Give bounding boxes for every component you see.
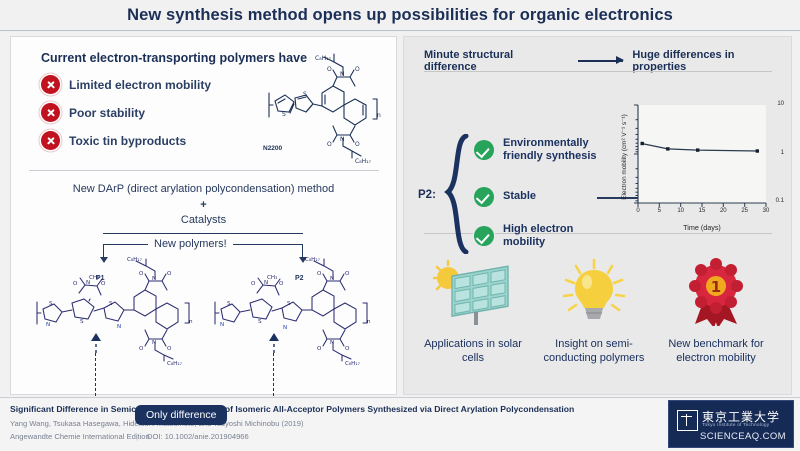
svg-text:S: S	[287, 301, 291, 307]
p1-polymer-structure: S N S N S N OO NN OO OO n CH₃ C₈H₁₇ C₈H₁…	[29, 253, 205, 365]
outcome-caption-2: New benchmark for electron mobility	[658, 337, 774, 366]
y-tick-1: 1	[750, 150, 784, 156]
paper-title: Significant Difference in Semiconducting…	[10, 404, 574, 414]
p2-polymer-structure: S N S N S N OO NN OO OO n CH₃ C₈H₁₇ C₈H₁…	[207, 253, 383, 365]
svg-text:CH₃: CH₃	[89, 275, 99, 281]
svg-text:O: O	[317, 271, 322, 277]
pro-label-0: Environmentally friendly synthesis	[503, 137, 613, 164]
huge-difference-label: Huge differences in properties	[632, 49, 791, 73]
method-label: New DArP (direct arylation polycondensat…	[11, 183, 396, 195]
n2200-label: N2200	[263, 145, 282, 152]
page-title: New synthesis method opens up possibilit…	[127, 6, 673, 25]
svg-text:N: N	[340, 71, 345, 78]
svg-text:S: S	[109, 301, 113, 307]
outcome-caption-1: Insight on semi-conducting polymers	[536, 337, 652, 366]
svg-text:S: S	[282, 111, 286, 118]
svg-text:N: N	[283, 325, 287, 331]
svg-text:O: O	[101, 281, 106, 287]
y-tick-2: 0.1	[750, 198, 784, 204]
check-circle-icon	[474, 187, 494, 207]
p1-pointer-arrow	[89, 333, 103, 353]
outcome-2: 1 New benchmark for electron mobility	[658, 258, 774, 366]
svg-text:O: O	[327, 141, 332, 148]
logo-english-name: Tokyo Institute of Technology	[702, 423, 769, 428]
x-tick-0: 0	[631, 208, 645, 214]
svg-text:C₈H₁₇: C₈H₁₇	[305, 257, 320, 263]
chart-x-axis-label: Time (days)	[638, 223, 766, 232]
svg-text:N: N	[330, 276, 334, 282]
svg-text:CH₃: CH₃	[267, 275, 277, 281]
svg-text:N: N	[220, 322, 224, 328]
con-item-1: Poor stability	[41, 103, 145, 122]
svg-text:S: S	[49, 301, 53, 307]
pro-item-1: Stable	[474, 187, 536, 207]
svg-text:O: O	[317, 346, 322, 352]
check-circle-icon	[474, 226, 494, 246]
pro-item-2: High electron mobility	[474, 223, 593, 250]
svg-text:O: O	[139, 346, 144, 352]
svg-text:O: O	[139, 271, 144, 277]
logo-mark-icon	[677, 410, 698, 431]
new-polymers-label: New polymers!	[148, 238, 233, 250]
award-ribbon-icon: 1	[673, 258, 759, 326]
mobility-chart: 10 1 0.1 0 5 10 15 20 25 30 Electron mob…	[600, 97, 784, 239]
con-item-0: Limited electron mobility	[41, 75, 211, 94]
svg-text:O: O	[167, 271, 172, 277]
p2-pointer-arrow	[267, 333, 281, 353]
svg-text:O: O	[251, 281, 256, 287]
svg-text:S: S	[227, 301, 231, 307]
fork-top-line	[103, 233, 303, 234]
x-tick-3: 15	[695, 208, 709, 214]
catalysts-label: Catalysts	[11, 214, 396, 226]
paper-journal: Angewandte Chemie International Edition	[10, 432, 150, 441]
y-tick-0: 10	[750, 101, 784, 107]
footer-separator: |	[136, 432, 138, 441]
svg-text:O: O	[73, 281, 78, 287]
check-circle-icon	[474, 140, 494, 160]
svg-text:n: n	[189, 319, 193, 325]
svg-text:C₈H₁₇: C₈H₁₇	[345, 361, 360, 365]
svg-text:N: N	[152, 276, 156, 282]
infographic-root: New synthesis method opens up possibilit…	[0, 0, 800, 450]
divider-1	[29, 170, 379, 171]
only-difference-badge: Only difference	[135, 405, 227, 425]
x-tick-4: 20	[716, 208, 730, 214]
x-tick-1: 5	[652, 208, 666, 214]
x-circle-icon	[41, 103, 60, 122]
outcome-0: Applications in solar cells	[415, 258, 531, 366]
lightbulb-icon	[551, 258, 637, 326]
svg-text:N: N	[46, 322, 50, 328]
con-label-0: Limited electron mobility	[69, 78, 211, 92]
svg-text:O: O	[279, 281, 284, 287]
svg-text:n: n	[367, 319, 371, 325]
svg-text:C₈H₁₇: C₈H₁₇	[167, 361, 182, 365]
right-panel-header: Minute structural difference Huge differ…	[424, 49, 791, 73]
curly-brace-icon	[444, 134, 470, 254]
outcome-caption-0: Applications in solar cells	[415, 337, 531, 366]
svg-text:S: S	[80, 319, 84, 325]
minute-difference-label: Minute structural difference	[424, 49, 569, 73]
pro-label-1: Stable	[503, 190, 536, 203]
svg-text:S: S	[303, 91, 307, 98]
x-tick-2: 10	[674, 208, 688, 214]
svg-text:N: N	[330, 340, 334, 346]
svg-text:O: O	[345, 346, 350, 352]
svg-text:N: N	[117, 324, 121, 330]
plus-symbol: +	[11, 199, 396, 211]
institution-logo: 東京工業大学 Tokyo Institute of Technology SCI…	[668, 400, 794, 448]
paper-doi: DOI: 10.1002/anie.201904966	[147, 432, 249, 441]
svg-text:n: n	[377, 112, 381, 119]
x-circle-icon	[41, 131, 60, 150]
svg-text:S: S	[258, 319, 262, 325]
solar-panel-icon	[430, 258, 516, 326]
x-tick-6: 30	[759, 208, 773, 214]
pro-label-2: High electron mobility	[503, 223, 593, 250]
svg-text:C₈H₁₇: C₈H₁₇	[355, 158, 372, 163]
svg-text:C₈H₁₇: C₈H₁₇	[315, 55, 332, 62]
svg-text:O: O	[327, 66, 332, 73]
chart-y-axis-label: Electron mobility (cm² V⁻¹ s⁻¹)	[620, 105, 628, 209]
left-panel: Current electron-transporting polymers h…	[10, 36, 397, 395]
header-bar: New synthesis method opens up possibilit…	[0, 0, 800, 31]
svg-text:O: O	[167, 346, 172, 352]
svg-text:O: O	[345, 271, 350, 277]
svg-text:C₈H₁₇: C₈H₁₇	[127, 257, 142, 263]
divider-right-top	[424, 71, 772, 72]
outcome-1: Insight on semi-conducting polymers	[536, 258, 652, 366]
pro-item-0: Environmentally friendly synthesis	[474, 137, 613, 164]
x-circle-icon	[41, 75, 60, 94]
con-label-2: Toxic tin byproducts	[69, 134, 186, 148]
con-label-1: Poor stability	[69, 106, 145, 120]
arrow-right-icon	[578, 60, 624, 62]
svg-text:N: N	[152, 340, 156, 346]
svg-text:O: O	[355, 66, 360, 73]
p2-group-label: P2:	[418, 189, 436, 201]
svg-text:O: O	[355, 141, 360, 148]
con-item-2: Toxic tin byproducts	[41, 131, 186, 150]
x-tick-5: 25	[738, 208, 752, 214]
source-watermark: SCIENCEAQ.COM	[700, 431, 786, 442]
award-badge-number: 1	[711, 278, 721, 296]
svg-text:N: N	[340, 136, 345, 143]
